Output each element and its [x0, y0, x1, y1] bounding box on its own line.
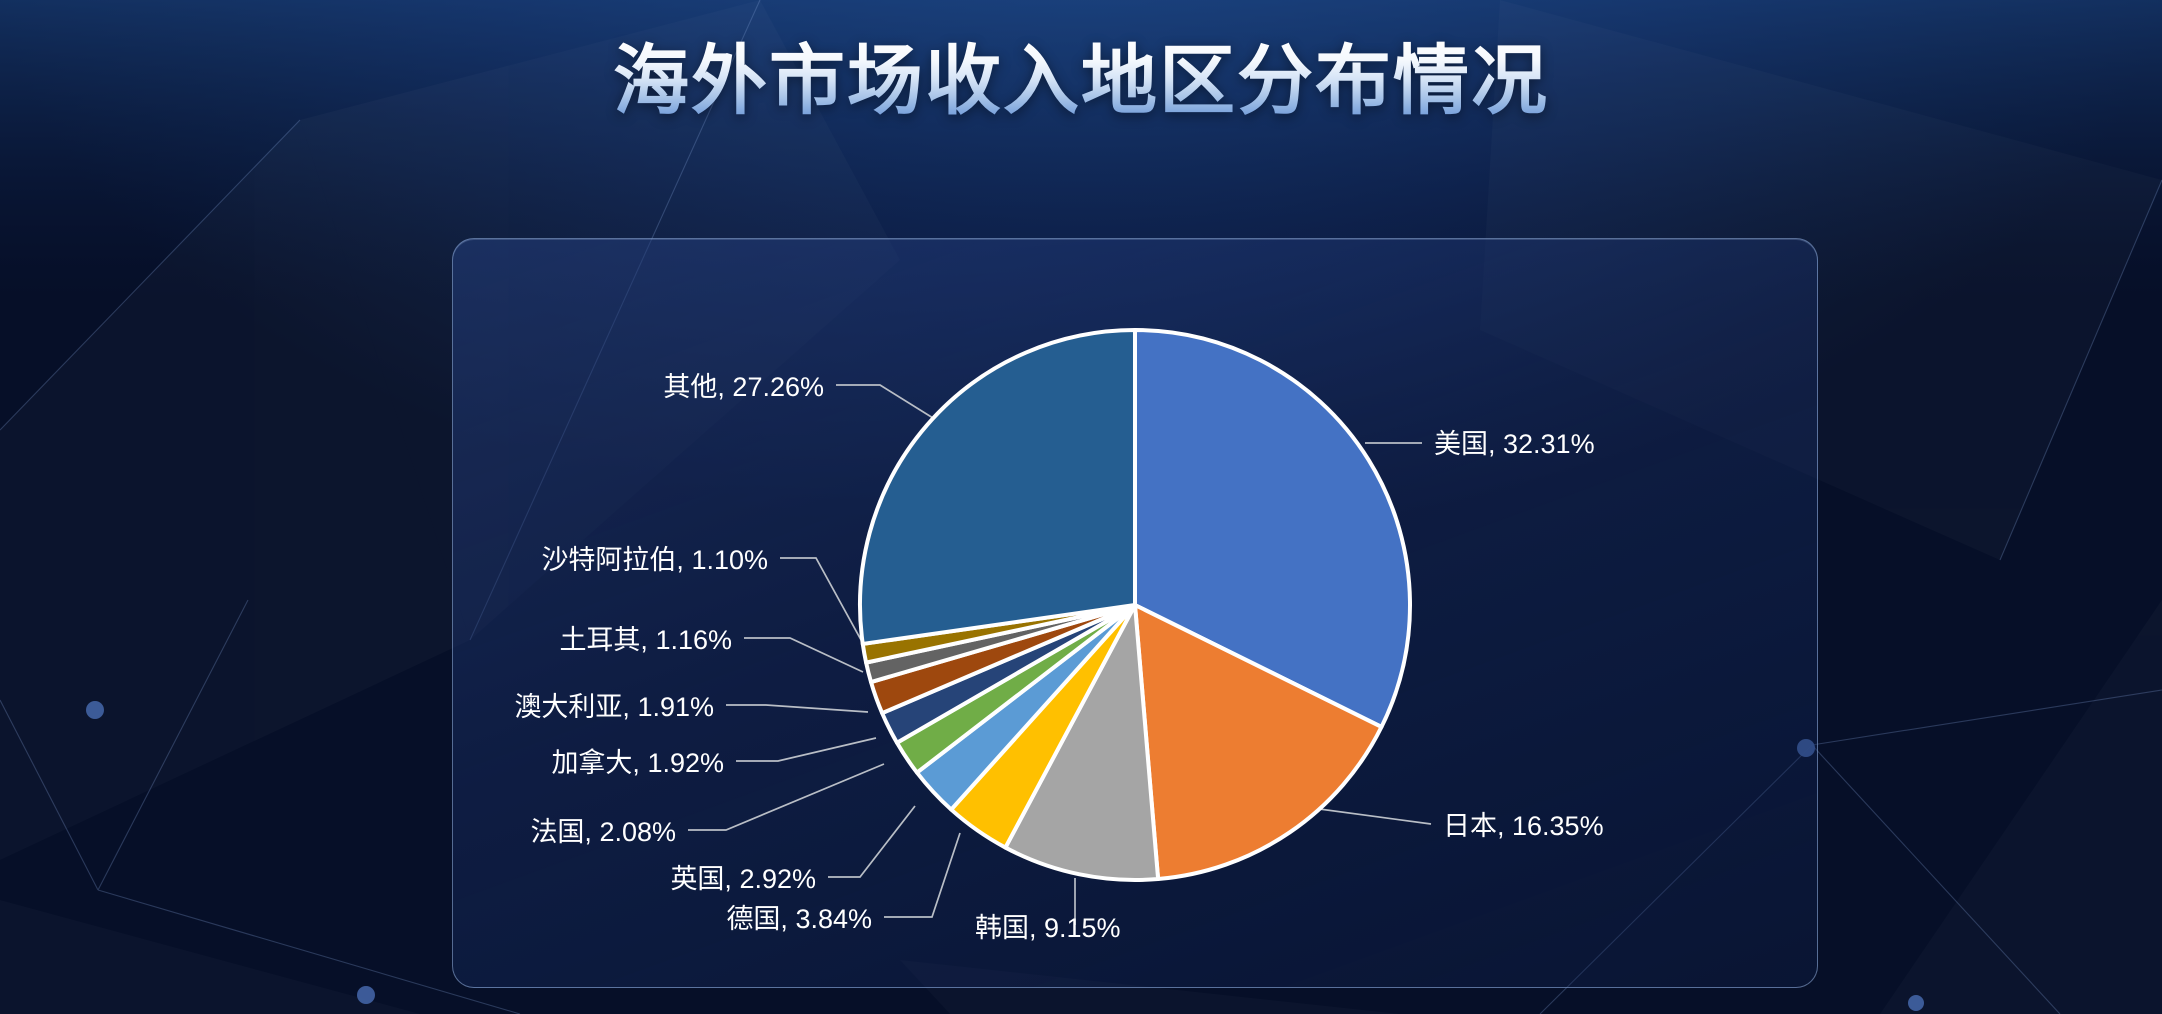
leader-line-aodaliya [726, 705, 868, 712]
pie-chart-svg: 美国, 32.31% 日本, 16.35% 韩国, 9.15% 德国, 3.84… [0, 0, 2162, 1014]
pie-label-riben: 日本, 16.35% [1443, 811, 1604, 841]
leader-line-jianada [736, 738, 876, 761]
pie-label-hanguo: 韩国, 9.15% [975, 913, 1121, 943]
pie-label-qita: 其他, 27.26% [663, 372, 824, 402]
pie-slice[interactable] [860, 330, 1135, 644]
pie-label-shatealabo: 沙特阿拉伯, 1.10% [541, 545, 768, 575]
pie-label-tuerqi: 土耳其, 1.16% [559, 625, 732, 655]
pie-label-faguo: 法国, 2.08% [530, 817, 676, 847]
pie-label-meiguo: 美国, 32.31% [1434, 429, 1595, 459]
pie-label-yingguo: 英国, 2.92% [670, 864, 816, 894]
pie-slice-group[interactable] [860, 330, 1410, 880]
leader-line-qita [836, 385, 933, 418]
page-title: 海外市场收入地区分布情况 [613, 38, 1549, 125]
leader-line-shatealabo [780, 558, 866, 649]
leader-line-deguo [884, 833, 960, 917]
pie-label-jianada: 加拿大, 1.92% [551, 748, 724, 778]
pie-chart: 美国, 32.31% 日本, 16.35% 韩国, 9.15% 德国, 3.84… [0, 0, 2162, 1014]
pie-label-deguo: 德国, 3.84% [726, 904, 872, 934]
pie-label-aodaliya: 澳大利亚, 1.91% [514, 692, 714, 722]
leader-line-yingguo [828, 806, 915, 877]
slide-canvas: 海外市场收入地区分布情况 美国, 32.31% [0, 0, 2162, 1014]
slide-title-container: 海外市场收入地区分布情况 [0, 38, 2162, 125]
leader-line-tuerqi [744, 638, 863, 672]
